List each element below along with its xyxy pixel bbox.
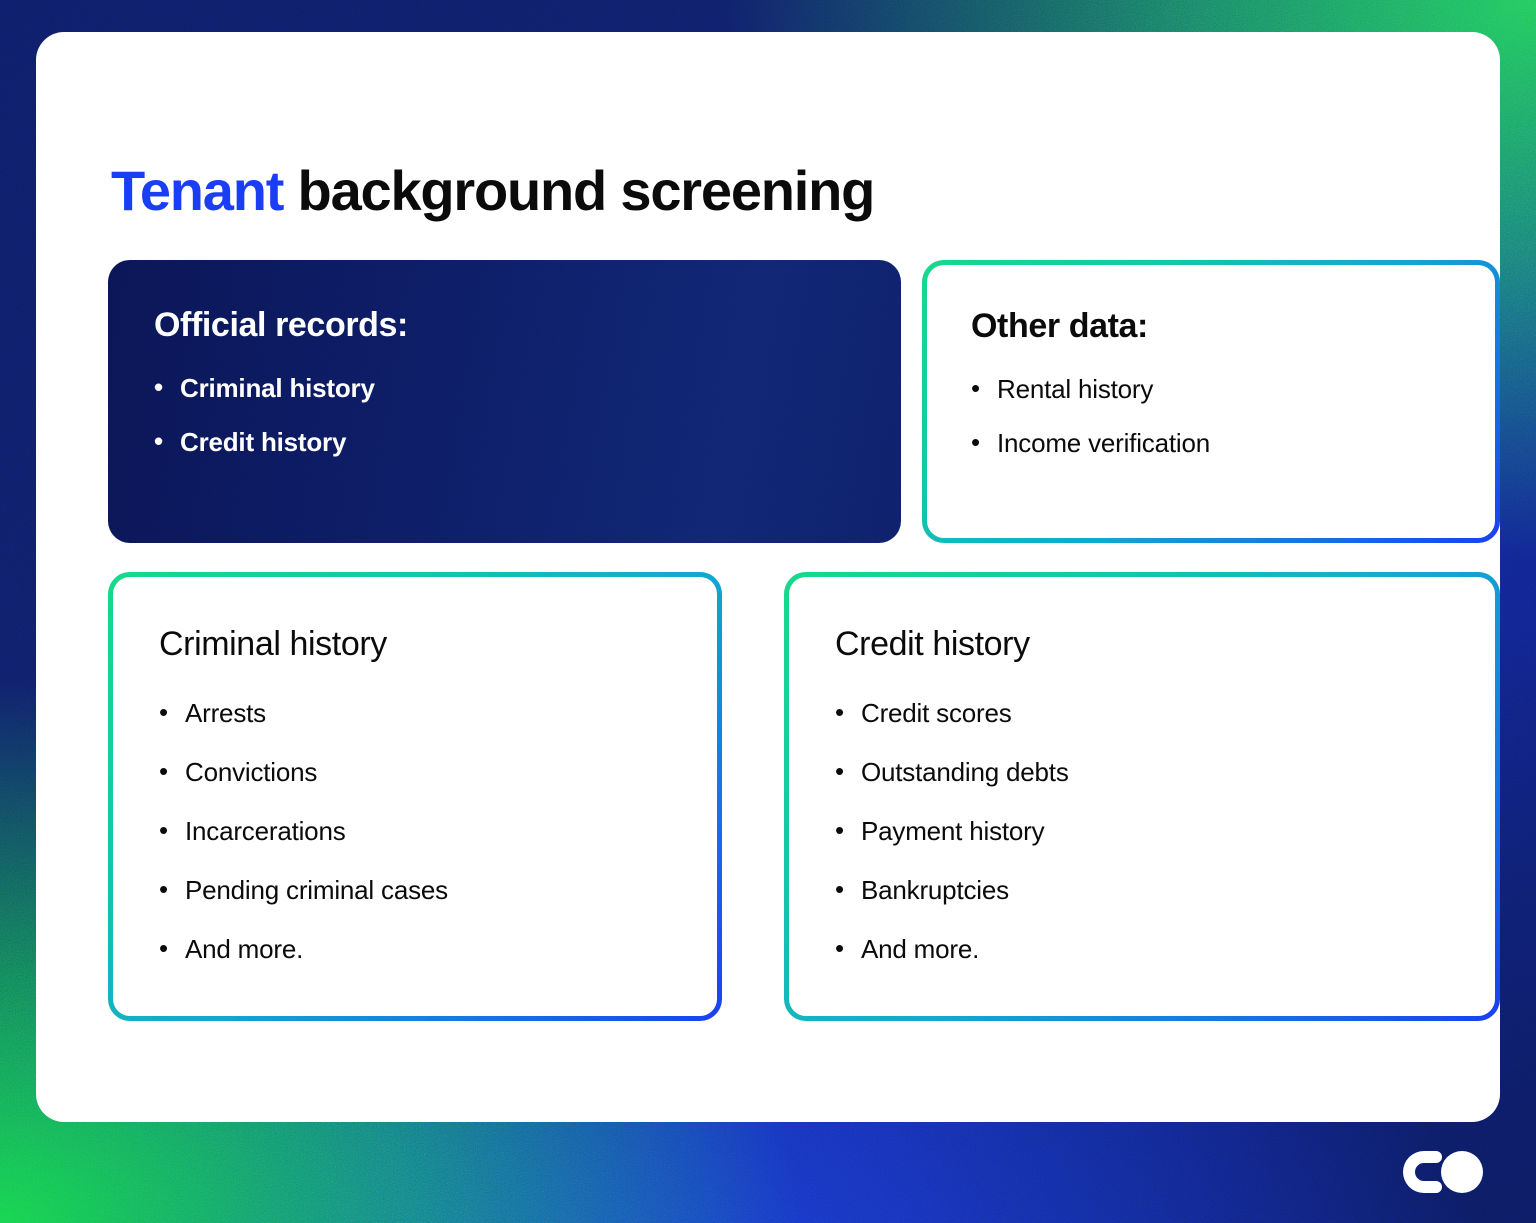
list-item: Credit scores — [835, 700, 1495, 726]
list-item: Payment history — [835, 818, 1495, 844]
list-item: Convictions — [159, 759, 717, 785]
list-item: Rental history — [971, 376, 1495, 402]
card-criminal-history-list: Arrests Convictions Incarcerations Pendi… — [159, 700, 717, 962]
list-item: Pending criminal cases — [159, 877, 717, 903]
list-item: Bankruptcies — [835, 877, 1495, 903]
list-item: Credit history — [154, 429, 901, 455]
list-item: Income verification — [971, 430, 1495, 456]
card-credit-history-heading: Credit history — [835, 625, 1495, 664]
card-official-records-heading: Official records: — [154, 306, 901, 345]
card-criminal-history-heading: Criminal history — [159, 625, 717, 664]
card-other-data: Other data: Rental history Income verifi… — [922, 260, 1500, 543]
content-panel: Tenant background screening Official rec… — [36, 32, 1500, 1122]
co-logo-icon — [1400, 1149, 1486, 1195]
list-item: And more. — [159, 936, 717, 962]
card-other-data-list: Rental history Income verification — [971, 376, 1495, 456]
card-official-records-list: Criminal history Credit history — [154, 375, 901, 455]
card-other-data-heading: Other data: — [971, 307, 1495, 346]
page-title-rest: background screening — [283, 159, 874, 222]
card-official-records: Official records: Criminal history Credi… — [108, 260, 901, 543]
page-title: Tenant background screening — [111, 158, 874, 223]
list-item: Incarcerations — [159, 818, 717, 844]
card-credit-history: Credit history Credit scores Outstanding… — [784, 572, 1500, 1021]
list-item: Arrests — [159, 700, 717, 726]
card-criminal-history: Criminal history Arrests Convictions Inc… — [108, 572, 722, 1021]
page-title-accent: Tenant — [111, 159, 283, 222]
list-item: Criminal history — [154, 375, 901, 401]
card-credit-history-list: Credit scores Outstanding debts Payment … — [835, 700, 1495, 962]
list-item: And more. — [835, 936, 1495, 962]
list-item: Outstanding debts — [835, 759, 1495, 785]
